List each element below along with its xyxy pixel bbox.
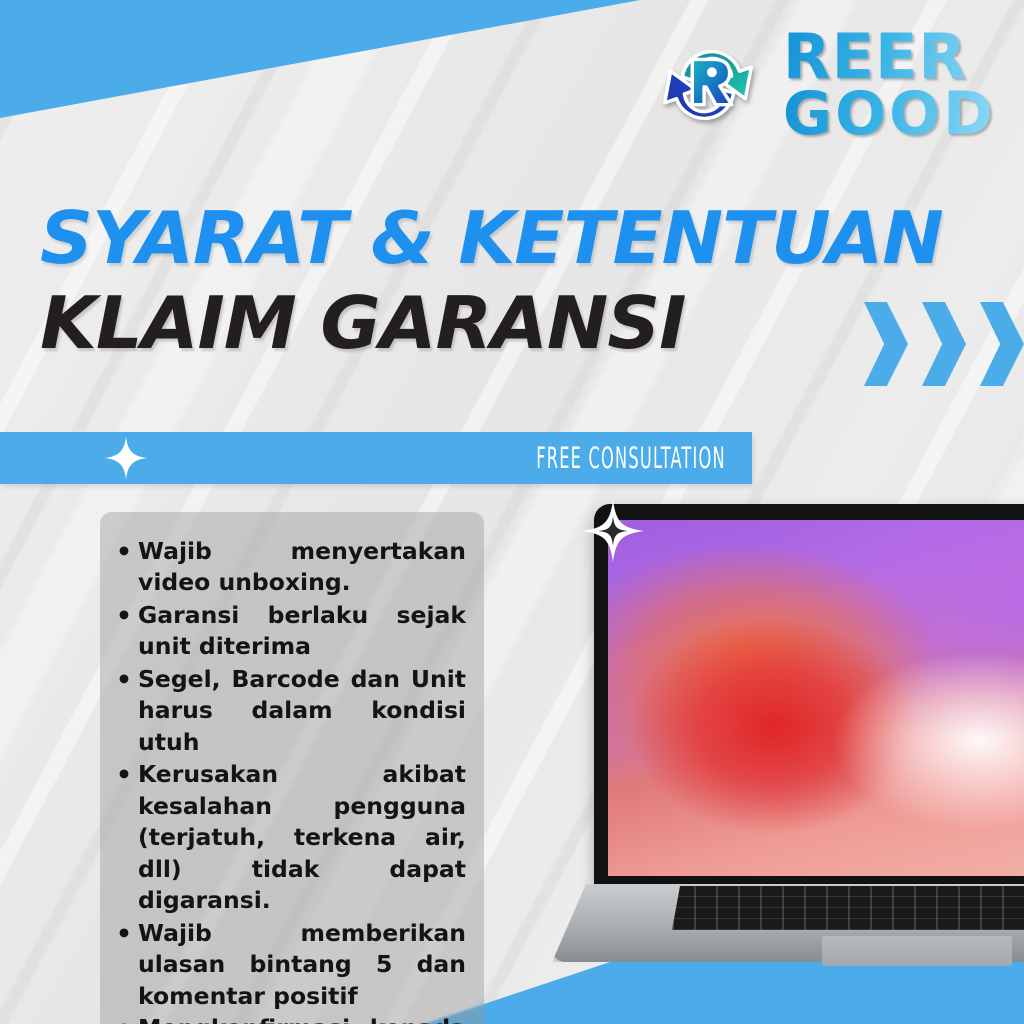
brand-wordmark: REER GOOD	[783, 28, 996, 143]
title-line-primary: SYARAT & KETENTUAN	[40, 196, 917, 281]
terms-list-panel: Wajib menyertakan video unboxing. Garans…	[100, 512, 484, 1024]
list-item: Kerusakan akibat kesalahan pengguna (ter…	[136, 759, 466, 916]
free-consultation-banner: FREE CONSULTATION	[0, 432, 752, 484]
recycle-arrows-r-logo-icon	[649, 26, 767, 144]
chevron-decor-group	[864, 302, 1024, 386]
list-item: Wajib memberikan ulasan bintang 5 dan ko…	[136, 918, 466, 1012]
poster-canvas: REER GOOD SYARAT & KETENTUAN KLAIM GARAN…	[0, 0, 1024, 1024]
title-line-secondary: KLAIM GARANSI	[40, 281, 917, 366]
sparkle-icon	[582, 500, 644, 562]
brand-name-line2: GOOD	[783, 86, 996, 142]
page-title: SYARAT & KETENTUAN KLAIM GARANSI	[40, 196, 900, 366]
four-point-star-icon	[104, 436, 148, 480]
chevron-right-icon	[980, 302, 1024, 386]
brand-name-line1: REER	[783, 28, 996, 86]
list-item: Segel, Barcode dan Unit harus dalam kond…	[136, 664, 466, 758]
laptop-lid	[594, 504, 1024, 888]
laptop-image	[552, 494, 1024, 1024]
laptop-keyboard	[672, 886, 1024, 930]
list-item: Mengkonfirmasi kepada admin kami terlebi…	[136, 1013, 466, 1024]
laptop-screen-wallpaper	[608, 520, 1024, 876]
terms-list: Wajib menyertakan video unboxing. Garans…	[114, 536, 466, 1024]
list-item: Wajib menyertakan video unboxing.	[136, 536, 466, 599]
chevron-right-icon	[864, 302, 908, 386]
chevron-right-icon	[922, 302, 966, 386]
list-item: Garansi berlaku sejak unit diterima	[136, 600, 466, 663]
banner-label: FREE CONSULTATION	[536, 441, 726, 475]
laptop-trackpad	[822, 936, 1012, 966]
brand-logo: REER GOOD	[649, 26, 996, 144]
